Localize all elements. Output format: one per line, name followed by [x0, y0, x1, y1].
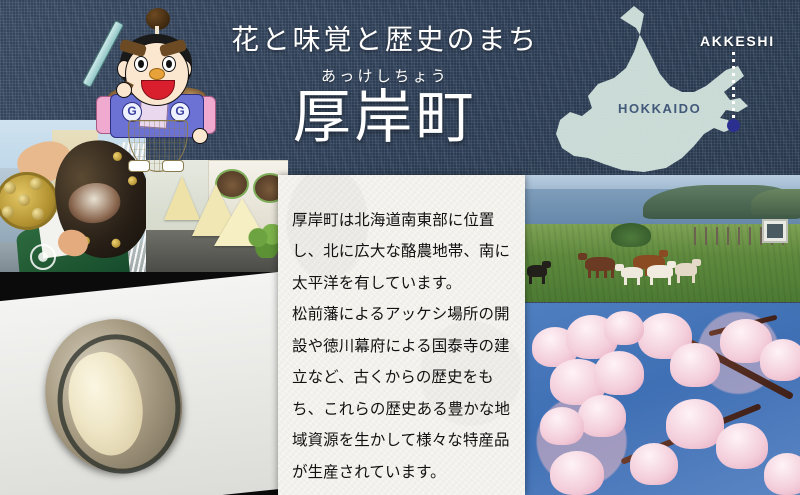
mascot-badge-right: G [170, 102, 190, 122]
headline-block: 花と味覚と歴史のまち あっけしちょう 厚岸町 [215, 18, 555, 149]
map-marker-label: AKKESHI [700, 33, 775, 49]
title-yomigana: あっけしちょう [215, 65, 555, 86]
cherry-blossoms-photo [520, 303, 800, 495]
mascot-badge-left: G [122, 102, 142, 122]
map-marker-dot [727, 119, 740, 132]
description-paragraph-1: 厚岸町は北海道南東部に位置し、北に広大な酪農地帯、南に太平洋を有しています。 [292, 205, 512, 299]
description-panel: 厚岸町は北海道南東部に位置し、北に広大な酪農地帯、南に太平洋を有しています。 松… [278, 175, 525, 495]
akkeshi-samurai-oyster-mascot: G G [92, 2, 212, 170]
map-leader-line [732, 52, 735, 120]
hokkaido-map [548, 0, 800, 180]
tagline: 花と味覚と歴史のまち [215, 18, 555, 58]
hokkaido-shape-icon [548, 0, 800, 180]
oysters-in-tray-photo [0, 272, 288, 495]
description-paragraph-2: 松前藩によるアッケシ場所の開設や徳川幕府による国泰寺の建立など、古くからの歴史を… [292, 299, 512, 488]
page-title: 厚岸町 [215, 88, 555, 149]
horses-coastal-pasture-photo [525, 175, 800, 302]
cheese-wedges-photo [146, 160, 288, 272]
map-region-label: HOKKAIDO [618, 101, 701, 116]
description-text: 厚岸町は北海道南東部に位置し、北に広大な酪農地帯、南に太平洋を有しています。 松… [292, 205, 512, 488]
poster-canvas: G G 花と味覚と歴史のまち あっけしちょう 厚岸町 HOKKAIDO AKKE… [0, 0, 800, 495]
